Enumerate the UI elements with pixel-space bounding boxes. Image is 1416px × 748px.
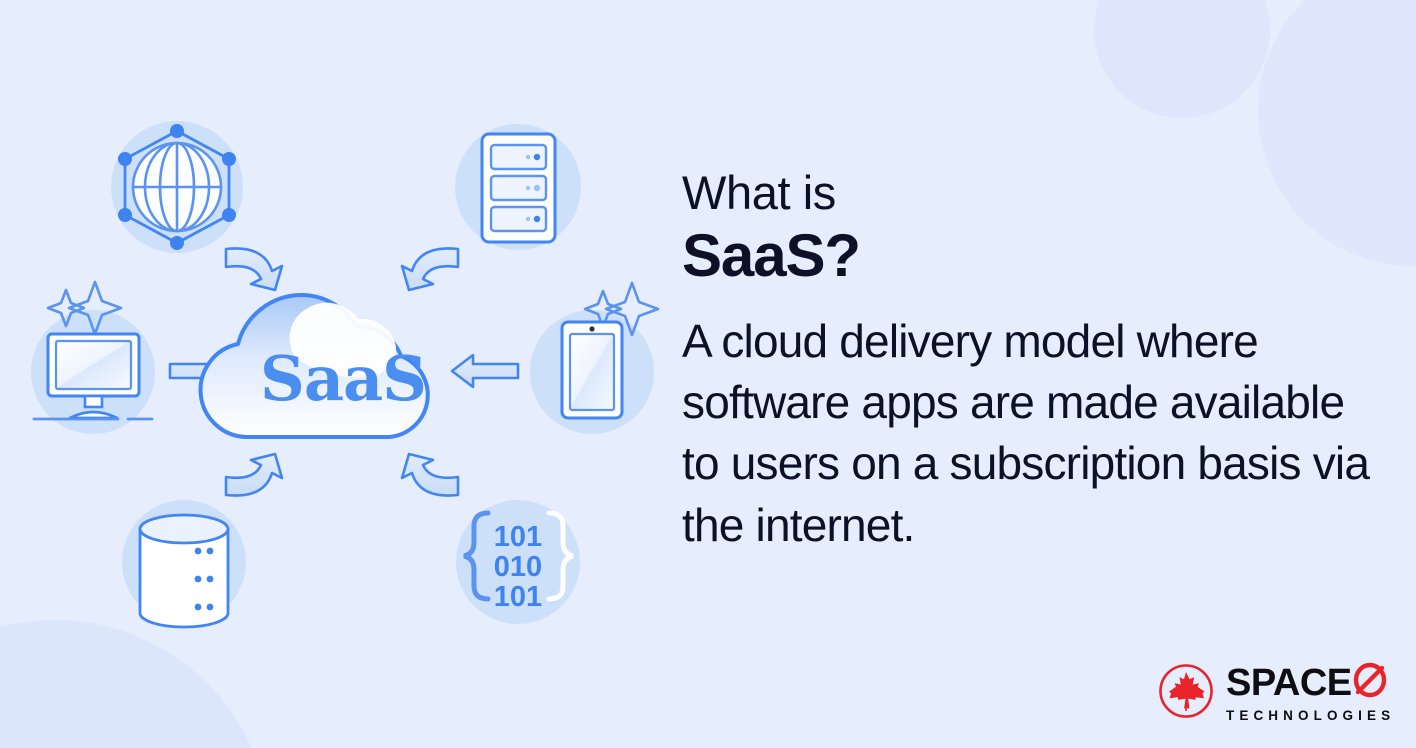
logo-tagline: TECHNOLOGIES xyxy=(1226,709,1395,723)
decorative-circle-top-right-small xyxy=(1094,0,1270,118)
infographic-canvas: 101 010 101 SaaS What xyxy=(0,0,1416,748)
arrow-database-to-cloud xyxy=(226,454,282,496)
arrow-globe-to-cloud xyxy=(226,248,282,290)
database-icon xyxy=(140,515,228,627)
binary-line-3: 101 xyxy=(494,581,542,613)
logo-slashed-o-icon xyxy=(1353,660,1387,705)
tablet-device-icon xyxy=(562,322,622,418)
description-text: A cloud delivery model where software ap… xyxy=(682,311,1382,556)
text-content: What is SaaS? A cloud delivery model whe… xyxy=(682,168,1382,556)
binary-line-1: 101 xyxy=(494,521,542,553)
saas-diagram: 101 010 101 SaaS xyxy=(0,0,670,748)
diagram-node-server xyxy=(455,124,581,250)
diagram-node-desktop xyxy=(31,282,155,434)
cloud-label: SaaS xyxy=(260,342,426,415)
diagram-node-code: 101 010 101 xyxy=(456,500,580,624)
page-title: SaaS? xyxy=(682,222,1382,289)
brand-logo: SPACE TECHNOLOGIES xyxy=(1158,660,1395,723)
diagram-node-tablet xyxy=(530,283,658,434)
diagram-node-database xyxy=(122,500,246,627)
arrow-code-to-cloud xyxy=(402,454,458,496)
binary-line-2: 010 xyxy=(494,551,542,583)
logo-wordmark: SPACE TECHNOLOGIES xyxy=(1226,660,1395,723)
diagram-node-globe xyxy=(111,121,243,253)
arrow-tablet-to-cloud xyxy=(452,355,518,387)
logo-brand-text: SPACE xyxy=(1226,664,1352,702)
maple-leaf-icon xyxy=(1158,663,1214,719)
kicker-text: What is xyxy=(682,168,1382,218)
logo-word-row: SPACE xyxy=(1226,660,1395,705)
arrow-server-to-cloud xyxy=(402,248,458,290)
server-rack-icon xyxy=(482,134,555,242)
saas-cloud: SaaS xyxy=(201,295,428,437)
